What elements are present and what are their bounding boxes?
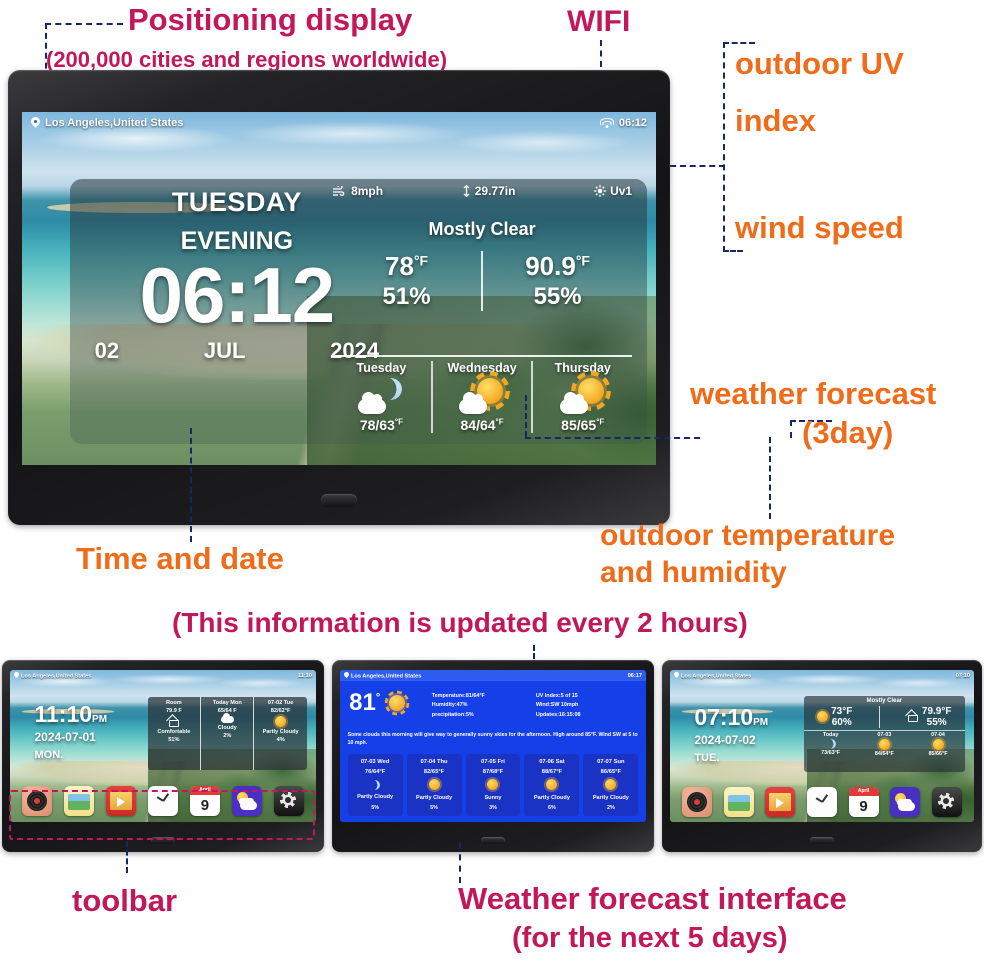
pressure-metric: 29.77in [462, 184, 516, 198]
callout-uvwind-top [723, 42, 755, 44]
forecast-precip: 2% [607, 805, 615, 811]
map-pin-icon [674, 672, 679, 679]
forecast-card: 07-05 Fri 87/68°F Sunny 3% [466, 754, 521, 816]
forecast-cond: Partly Cloudy [357, 794, 393, 800]
forecast-card: 07-03 Wed 76/64°F Partly Cloudy 5% [348, 754, 403, 816]
forecast-precip: 5% [430, 805, 438, 811]
forecast-temp: 85/66°F [911, 751, 965, 757]
condition-label: Mostly Clear [804, 696, 965, 704]
forecast-day-label: 07-05 Fri [481, 759, 505, 765]
forecast-day: Tuesday 78/63°F [332, 361, 431, 433]
main-status-bar: Los Angeles,United States 06:12 [22, 112, 656, 134]
card-pct: 4% [277, 737, 285, 743]
thumb-right-screen[interactable]: Los Angeles,United States 07:10 07:10PM … [670, 670, 974, 822]
forecast-cond: Partly Cloudy [534, 795, 570, 801]
status-time: 06:12 [619, 117, 647, 129]
card-title: Room [166, 700, 182, 706]
card-title: Today Mon [213, 700, 242, 706]
forecast-day: Thursday 85/65°F [531, 361, 632, 433]
stat-wind: Wind:SW 10mph [536, 702, 581, 708]
house-icon [168, 716, 180, 727]
main-screen[interactable]: Los Angeles,United States 06:12 TUESDAY … [22, 112, 656, 465]
stat-updates: Updates:16:15:08 [536, 712, 581, 718]
current-temp: 81 [349, 689, 376, 716]
sun-icon [389, 695, 405, 711]
forecast-card: 07-06 Sat 88/67°F Partly Cloudy 6% [524, 754, 579, 816]
moon-cloud-icon [826, 739, 836, 749]
thumb-mid-device-button[interactable] [481, 837, 505, 844]
forecast-cond: Partly Cloudy [593, 795, 629, 801]
main-device-button[interactable] [321, 494, 357, 507]
thumb-right-status-bar: Los Angeles,United States 07:10 [670, 670, 974, 681]
wind-speed-value: 8mph [351, 184, 383, 198]
thumb-device-mid: Los Angeles,United States 06:17 81° Temp… [332, 660, 654, 852]
location-label: Los Angeles,United States [351, 673, 421, 679]
sun-cloud-icon [459, 376, 505, 416]
thumb-right-weather-card: Mostly Clear 73°F 60% 79.9°F [804, 696, 965, 772]
three-day-forecast: Tuesday 78/63°F Wednesday 84/64°F Thursd… [332, 355, 632, 433]
degree-symbol: ° [376, 692, 380, 704]
five-day-forecast: 07-03 Wed 76/64°F Partly Cloudy 5% 07-04… [348, 754, 639, 816]
moon-cloud-icon [370, 780, 380, 790]
forecast-card: 07-04 Thu 82/65°F Partly Cloudy 5% [407, 754, 462, 816]
sun-cloud-icon [275, 716, 286, 727]
status-time: 11:10 [298, 673, 312, 679]
outdoor-temp: 78 [385, 251, 414, 281]
callout-time-date-v [190, 428, 192, 542]
uv-index-metric: Uv1 [594, 184, 632, 198]
card-title: 07-02 Tue [268, 700, 293, 706]
thumb-left-dow: MON. [34, 749, 107, 761]
stats-left-column: Temperature:81/64°F Humidity:47% precipi… [432, 693, 485, 718]
indoor-unit: °F [576, 252, 590, 268]
forecast-day-label: 07-04 [911, 732, 965, 738]
indoor-block: 79.9°F 55% [907, 706, 952, 728]
stat-temperature: Temperature:81/64°F [432, 693, 485, 699]
thumb-mid-status-bar: Los Angeles,United States 06:17 [340, 670, 646, 681]
callout-positioning-h [45, 23, 123, 25]
thumb-right-clock: 07:10 [694, 704, 753, 730]
stat-humidity: Humidity:47% [432, 702, 485, 708]
sun-cloud-icon [560, 376, 606, 416]
main-info-panel: TUESDAY EVENING 06:12 02 JUL 2024 [70, 179, 647, 444]
forecast-precip: 3% [489, 805, 497, 811]
annotation-positioning-sub: (200,000 cities and regions worldwide) [46, 48, 447, 71]
wind-icon [332, 186, 347, 197]
annotation-toolbar: toolbar [72, 885, 177, 918]
thumb-left-status-bar: Los Angeles,United States 11:10 [10, 670, 316, 681]
outdoor-humidity: 51% [332, 283, 481, 311]
card-cond: Partly Cloudy [263, 729, 299, 735]
thumb-left-clock-block: 11:10PM 2024-07-01 MON. [34, 703, 107, 761]
status-time: 06:17 [628, 673, 642, 679]
sun-icon [487, 779, 498, 790]
pressure-icon [462, 185, 471, 197]
indoor-temp: 79.9°F [922, 706, 952, 717]
forecast-day: 07-04 85/66°F [911, 732, 965, 757]
wifi-icon [601, 118, 614, 128]
card-today: Today Mon 65/64 F Cloudy 2% [200, 697, 253, 770]
card-room: Room 79.9 F Comfortable 51% [148, 697, 200, 770]
moon-cloud-icon [358, 376, 404, 416]
thumb-right-ampm: PM [753, 717, 768, 728]
annotation-positioning-title: Positioning display [128, 4, 412, 37]
annotation-weather-iface-line2: (for the next 5 days) [512, 923, 788, 953]
forecast-day: Today 73/63°F [804, 732, 858, 757]
mini-forecast-row: Today 73/63°F 07-03 84/64°F 07-04 85/66°… [804, 730, 965, 757]
stats-right-column: UV Index:5 of 15 Wind:SW 10mph Updates:1… [536, 693, 581, 718]
forecast-temp: 78/63 [360, 417, 395, 433]
thumb-right-device-button[interactable] [810, 837, 834, 844]
uv-icon [594, 185, 606, 197]
forecast-day-label: 07-03 Wed [361, 759, 390, 765]
forecast-day: Wednesday 84/64°F [431, 361, 532, 433]
forecast-day-label: 07-06 Sat [539, 759, 564, 765]
video-icon[interactable] [765, 787, 795, 817]
uv-index-value: Uv1 [610, 184, 632, 198]
sun-cloud-icon [429, 779, 440, 790]
forecast-day-label: 07-03 [857, 732, 911, 738]
forecast-precip: 6% [548, 805, 556, 811]
thumb-right-dow: TUE. [694, 752, 768, 764]
map-pin-icon [344, 672, 349, 679]
condition-label: Mostly Clear [332, 219, 632, 240]
cloud-icon [221, 716, 234, 723]
annotation-forecast-line2: (3day) [802, 417, 893, 450]
stat-precipitation: precipitation:5% [432, 712, 485, 718]
sun-cloud-icon [605, 779, 616, 790]
thumb-left-date: 2024-07-01 [34, 730, 107, 744]
thumb-right-toolbar[interactable]: April 9 [682, 787, 962, 817]
card-temp: 82/62°F [271, 708, 291, 714]
stat-uv-index: UV Index:5 of 15 [536, 693, 581, 699]
pressure-value: 29.77in [475, 184, 516, 198]
forecast-temp: 85/65 [561, 417, 596, 433]
forecast-cond: Partly Cloudy [416, 795, 452, 801]
forecast-temp: 87/68°F [483, 769, 503, 775]
annotation-weather-iface-line1: Weather forecast interface [458, 883, 847, 916]
callout-outdoor-v [769, 437, 771, 519]
settings-icon[interactable] [932, 787, 962, 817]
current-conditions: 81° [349, 690, 410, 716]
callout-uvwind-v [723, 42, 725, 252]
callout-uvwind-bot [723, 250, 743, 252]
forecast-day-label: 07-07 Sun [597, 759, 624, 765]
forecast-unit: °F [395, 418, 403, 427]
annotation-forecast-line1: weather forecast [690, 378, 936, 411]
house-icon [907, 711, 919, 722]
status-time: 07:10 [956, 673, 970, 679]
calendar-month: April [849, 787, 879, 796]
annotation-wifi: WIFI [567, 6, 630, 38]
callout-toolbar-v [126, 841, 128, 873]
indoor-humidity: 55% [922, 717, 952, 728]
outdoor-temp-block: 78°F 51% [332, 251, 481, 311]
sun-cloud-icon [546, 779, 557, 790]
map-pin-icon [14, 672, 19, 679]
temperature-row: 78°F 51% 90.9°F 55% [332, 251, 632, 311]
card-temp: 79.9 F [166, 708, 182, 714]
wind-speed-metric: 8mph [332, 184, 383, 198]
sun-icon [817, 711, 828, 722]
forecast-precip: 5% [371, 805, 379, 811]
annotation-time-date: Time and date [76, 543, 284, 576]
card-cond: Cloudy [218, 725, 237, 731]
sun-cloud-icon [879, 739, 890, 750]
forecast-temp: 82/65°F [424, 769, 444, 775]
annotation-update-note: (This information is updated every 2 hou… [172, 608, 748, 637]
location-label: Los Angeles,United States [21, 673, 91, 679]
weather-icon[interactable] [890, 787, 920, 817]
location-label: Los Angeles,United States [45, 117, 183, 129]
forecast-temp: 84/64°F [857, 751, 911, 757]
outdoor-humidity: 60% [831, 717, 852, 728]
thumb-left-clock: 11:10 [34, 701, 92, 727]
callout-weather-iface-v [459, 843, 461, 883]
map-pin-icon [31, 117, 40, 129]
forecast-temp: 76/64°F [365, 769, 385, 775]
thumb-left-ampm: PM [92, 714, 107, 725]
forecast-temp: 73/63°F [804, 750, 858, 756]
forecast-temp: 86/65°F [601, 769, 621, 775]
annotation-wind-speed: wind speed [735, 212, 904, 245]
card-pct: 2% [223, 733, 231, 739]
forecast-unit: °F [596, 418, 604, 427]
forecast-day: 07-03 84/64°F [857, 732, 911, 757]
music-icon[interactable] [682, 787, 712, 817]
annotation-uv-line2: index [735, 105, 816, 138]
forecast-day-label: Tuesday [334, 361, 429, 375]
card-tomorrow: 07-02 Tue 82/62°F Partly Cloudy 4% [253, 697, 306, 770]
thumb-right-clock-block: 07:10PM 2024-07-02 TUE. [694, 706, 768, 764]
forecast-unit: °F [496, 418, 504, 427]
card-pct: 51% [168, 737, 179, 743]
outdoor-block: 73°F 60% [817, 706, 852, 728]
date-month: JUL [204, 338, 246, 364]
callout-forecast-h [525, 437, 700, 439]
indoor-humidity: 55% [483, 283, 632, 311]
photo-icon[interactable] [724, 787, 754, 817]
forecast-description: Some clouds this morning will give way t… [348, 732, 639, 748]
outdoor-temp: 73°F [831, 706, 852, 717]
outdoor-unit: °F [414, 252, 428, 268]
thumb-mid-screen[interactable]: Los Angeles,United States 06:17 81° Temp… [340, 670, 646, 822]
thumb-device-right: Los Angeles,United States 07:10 07:10PM … [662, 660, 982, 852]
indoor-temp-block: 90.9°F 55% [481, 251, 632, 311]
annotation-outdoor-line2: and humidity [600, 557, 787, 589]
thumb-right-date: 2024-07-02 [694, 733, 768, 747]
infographic-root: Positioning display (200,000 cities and … [0, 0, 984, 965]
callout-forecast-v [525, 395, 527, 437]
annotation-uv-line1: outdoor UV [735, 48, 904, 81]
sun-cloud-icon [933, 739, 944, 750]
forecast-day-label: 07-04 Thu [421, 759, 448, 765]
date-day: 02 [95, 338, 119, 364]
main-device: Los Angeles,United States 06:12 TUESDAY … [8, 70, 670, 525]
thumb-left-weather-card: Room 79.9 F Comfortable 51% Today Mon 65… [148, 697, 307, 770]
indoor-temp: 90.9 [525, 251, 576, 281]
forecast-temp: 88/67°F [542, 769, 562, 775]
forecast-card: 07-07 Sun 86/65°F Partly Cloudy 2% [583, 754, 638, 816]
card-cond: Comfortable [157, 729, 190, 735]
location-label: Los Angeles,United States [681, 673, 751, 679]
forecast-day-label: Today [804, 732, 858, 738]
callout-toolbar-box [9, 790, 315, 840]
callout-forecast-corner-v [790, 420, 792, 438]
calendar-icon[interactable]: April 9 [849, 787, 879, 817]
annotation-outdoor-line1: outdoor temperature [600, 520, 895, 552]
metrics-row: 8mph 29.77in [332, 184, 632, 198]
forecast-temp: 84/64 [461, 417, 496, 433]
calendar-day: 9 [849, 796, 879, 817]
clock-icon[interactable] [807, 787, 837, 817]
forecast-cond: Sunny [484, 795, 501, 801]
